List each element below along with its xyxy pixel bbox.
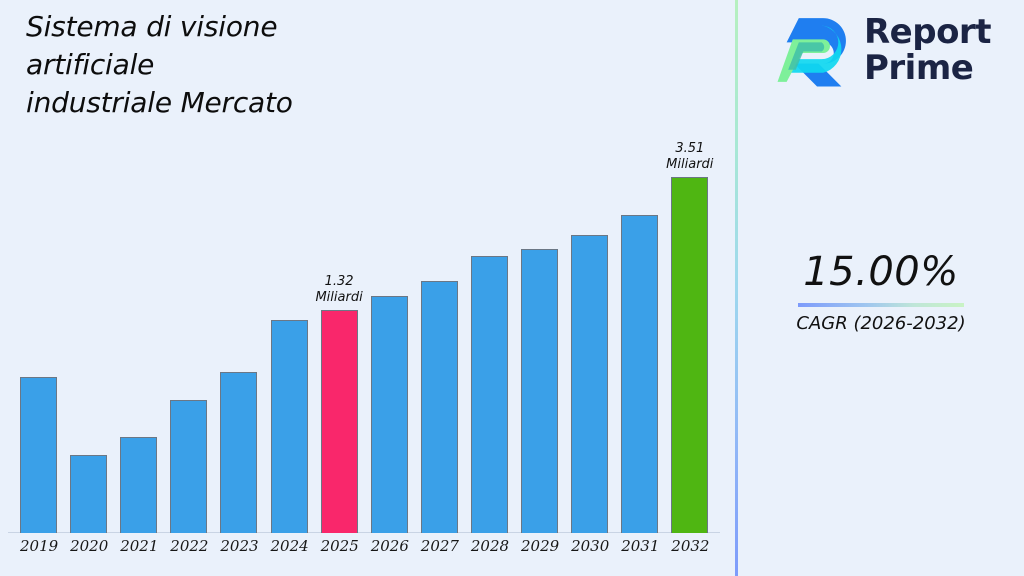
x-tick-2023: 2023 xyxy=(220,537,257,555)
cagr-block: 15.00% CAGR (2026-2032) xyxy=(738,248,1024,334)
x-tick-2022: 2022 xyxy=(170,537,207,555)
bar-2031 xyxy=(621,215,658,533)
bar-rect-2031 xyxy=(621,215,658,533)
bar-2024 xyxy=(271,320,308,533)
bar-rect-2030 xyxy=(571,235,608,533)
bar-2020 xyxy=(70,455,107,533)
brand-wordmark: Report Prime xyxy=(864,14,991,86)
bar-rect-2032 xyxy=(671,177,708,533)
cagr-caption: CAGR (2026-2032) xyxy=(738,313,1024,334)
bar-2028 xyxy=(471,256,508,533)
brand-name-line2: Prime xyxy=(864,50,991,86)
bar-2030 xyxy=(571,235,608,533)
bar-rect-2021 xyxy=(120,437,157,533)
bar-2029 xyxy=(521,249,558,533)
bar-2032: 3.51 Miliardi xyxy=(671,177,708,533)
cagr-divider-rule xyxy=(798,303,964,307)
bar-2025: 1.32 Miliardi xyxy=(321,310,358,533)
bar-chart-plot-area: 2019202020212022202320241.32 Miliardi202… xyxy=(0,0,735,576)
bar-rect-2020 xyxy=(70,455,107,533)
bar-2026 xyxy=(371,296,408,533)
bar-2021 xyxy=(120,437,157,533)
x-tick-2019: 2019 xyxy=(20,537,57,555)
report-prime-logo: Report Prime xyxy=(776,12,991,88)
bar-rect-2022 xyxy=(170,400,207,533)
cagr-value: 15.00% xyxy=(738,248,1024,296)
x-tick-2025: 2025 xyxy=(321,537,358,555)
chart-infographic: Sistema di visione artificiale industria… xyxy=(0,0,1024,576)
x-tick-2026: 2026 xyxy=(371,537,408,555)
bar-rect-2025 xyxy=(321,310,358,533)
x-tick-2031: 2031 xyxy=(621,537,658,555)
x-tick-2028: 2028 xyxy=(471,537,508,555)
bar-rect-2026 xyxy=(371,296,408,533)
x-tick-2021: 2021 xyxy=(120,537,157,555)
x-tick-2027: 2027 xyxy=(421,537,458,555)
bar-rect-2019 xyxy=(20,377,57,533)
brand-name-line1: Report xyxy=(864,14,991,50)
x-axis-line xyxy=(8,532,720,533)
report-prime-logo-icon xyxy=(776,12,852,88)
bar-rect-2028 xyxy=(471,256,508,533)
brand-panel: Report Prime 15.00% CAGR (2026-2032) xyxy=(738,0,1024,576)
bar-value-label-2032: 3.51 Miliardi xyxy=(645,141,735,173)
bar-2023 xyxy=(220,372,257,533)
x-tick-2032: 2032 xyxy=(671,537,708,555)
x-tick-2024: 2024 xyxy=(271,537,308,555)
bar-2027 xyxy=(421,281,458,533)
x-tick-2020: 2020 xyxy=(70,537,107,555)
x-tick-2030: 2030 xyxy=(571,537,608,555)
x-tick-2029: 2029 xyxy=(521,537,558,555)
bar-rect-2023 xyxy=(220,372,257,533)
bar-2019 xyxy=(20,377,57,533)
bar-rect-2029 xyxy=(521,249,558,533)
chart-panel: Sistema di visione artificiale industria… xyxy=(0,0,735,576)
bar-2022 xyxy=(170,400,207,533)
bar-rect-2027 xyxy=(421,281,458,533)
bar-rect-2024 xyxy=(271,320,308,533)
